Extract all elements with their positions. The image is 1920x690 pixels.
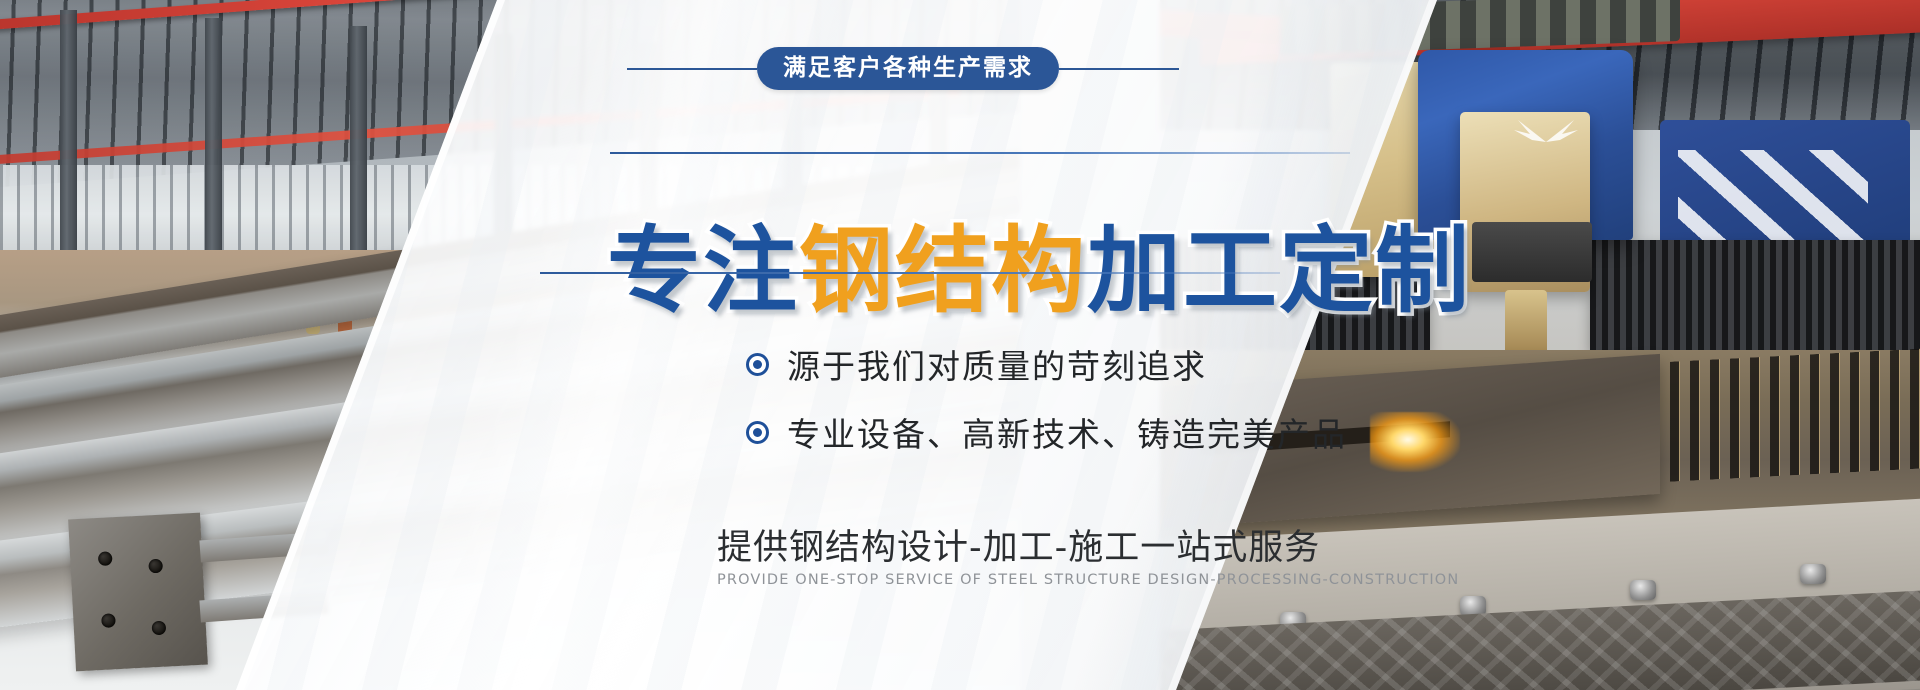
radio-dot-icon <box>746 353 769 376</box>
list-item: 源于我们对质量的苛刻追求 <box>746 340 1347 388</box>
feature-text: 专业设备、高新技术、铸造完美产品 <box>787 408 1347 456</box>
hero-banner: 满足客户各种生产需求 专注钢结构加工定制 源于我们对质量的苛刻追求 专业设备、高… <box>0 0 1920 690</box>
list-item: 专业设备、高新技术、铸造完美产品 <box>746 408 1347 456</box>
headline-top-rule <box>610 152 1350 154</box>
slogan-english: PROVIDE ONE-STOP SERVICE OF STEEL STRUCT… <box>717 572 1459 588</box>
headline-bottom-rule <box>540 272 1280 274</box>
radio-dot-icon <box>746 421 769 444</box>
badge-right-rule <box>1059 68 1179 70</box>
slogan-chinese: 提供钢结构设计-加工-施工一站式服务 <box>717 519 1320 570</box>
badge-left-rule <box>627 68 757 70</box>
tagline-badge: 满足客户各种生产需求 <box>757 47 1059 90</box>
feature-text: 源于我们对质量的苛刻追求 <box>787 340 1207 388</box>
feature-list: 源于我们对质量的苛刻追求 专业设备、高新技术、铸造完美产品 <box>746 340 1347 476</box>
tagline-badge-row: 满足客户各种生产需求 <box>627 47 1179 90</box>
banner-content: 满足客户各种生产需求 专注钢结构加工定制 源于我们对质量的苛刻追求 专业设备、高… <box>0 0 1920 690</box>
